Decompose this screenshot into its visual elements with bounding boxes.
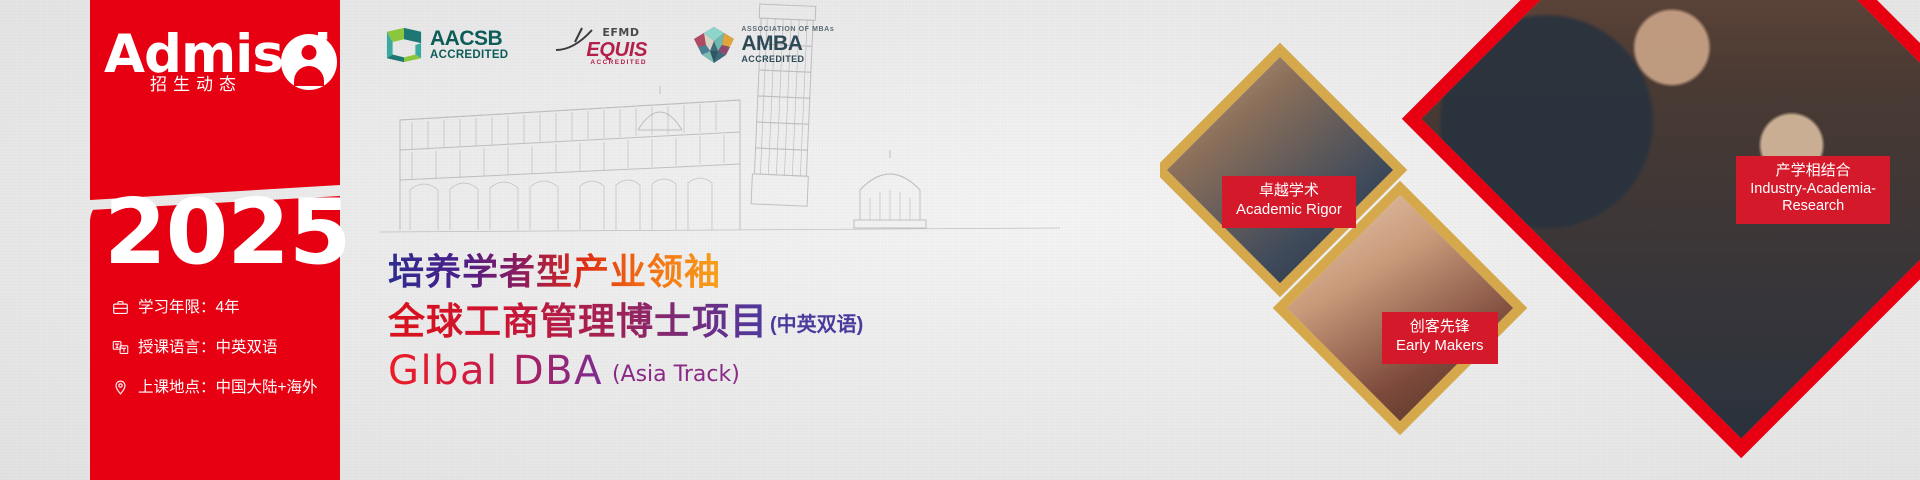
highlight-en-academic-rigor: Academic Rigor	[1236, 201, 1342, 220]
info-row-duration: 学习年限：4年	[112, 296, 348, 319]
highlight-en-early-makers: Early Makers	[1396, 337, 1484, 356]
efmd-label: EFMD	[602, 26, 639, 39]
admission-logo: Admissi 招生动态	[98, 28, 342, 108]
location-pin-icon	[112, 379, 129, 396]
avatar-body	[294, 66, 324, 86]
amba-logo: ASSOCIATION OF MBAs AMBA ACCREDITED	[692, 25, 834, 65]
accreditation-logos: AACSB ACCREDITED EFMD EQUIS ACCREDITED	[385, 24, 834, 66]
photo-collage: 卓越学术 Academic Rigor 创客先锋 Early Makers 产学…	[1160, 0, 1920, 480]
amba-subtitle: ACCREDITED	[741, 55, 834, 64]
headline-program-track: (Asia Track)	[612, 362, 740, 392]
info-row-location: 上课地点：中国大陆+海外	[112, 376, 348, 399]
headline-block: 培养学者型产业领袖 全球工商管理博士项目 (中英双语) Glbal DBA (A…	[388, 252, 1048, 392]
admission-banner: Admissi 招生动态 2025 学习年限：4年	[0, 0, 1920, 480]
info-label-language: 授课语言：中英双语	[138, 340, 278, 356]
headline-program-cn: 全球工商管理博士项目	[388, 302, 768, 343]
left-red-panel: Admissi 招生动态 2025 学习年限：4年	[90, 0, 340, 480]
info-label-duration: 学习年限：4年	[138, 300, 240, 316]
highlight-cn-industry-academia: 产学相结合	[1750, 162, 1876, 181]
person-avatar-icon	[281, 34, 337, 90]
amba-title: AMBA	[741, 33, 834, 55]
info-label-location: 上课地点：中国大陆+海外	[138, 380, 318, 396]
year-label: 2025	[104, 188, 340, 278]
highlight-cn-academic-rigor: 卓越学术	[1236, 182, 1342, 201]
headline-program-en: Glbal DBA	[388, 350, 603, 392]
amba-diamond-icon	[692, 25, 736, 65]
highlight-en-industry-academia-2: Research	[1750, 198, 1876, 216]
photo-industry-academia	[1402, 0, 1920, 458]
aacsb-mark-icon	[385, 26, 423, 64]
headline-program-language-note: (中英双语)	[770, 311, 863, 342]
aacsb-title: AACSB	[430, 28, 508, 49]
highlight-label-academic-rigor: 卓越学术 Academic Rigor	[1222, 176, 1356, 228]
language-icon	[112, 339, 129, 356]
info-row-language: 授课语言：中英双语	[112, 336, 348, 359]
avatar-head	[302, 45, 317, 60]
headline-tagline: 培养学者型产业领袖	[388, 252, 721, 292]
highlight-label-industry-academia: 产学相结合 Industry-Academia- Research	[1736, 156, 1890, 224]
highlight-cn-early-makers: 创客先锋	[1396, 318, 1484, 337]
equis-subtitle: ACCREDITED	[590, 59, 647, 66]
admission-subtitle-cn: 招生动态	[150, 70, 242, 95]
equis-logo: EFMD EQUIS ACCREDITED	[552, 24, 648, 66]
program-info-list: 学习年限：4年 授课语言：中英双语	[112, 296, 348, 416]
aacsb-subtitle: ACCREDITED	[430, 50, 508, 62]
highlight-label-early-makers: 创客先锋 Early Makers	[1382, 312, 1498, 364]
briefcase-icon	[112, 299, 129, 316]
highlight-en-industry-academia-1: Industry-Academia-	[1750, 181, 1876, 199]
aacsb-logo: AACSB ACCREDITED	[385, 26, 508, 64]
